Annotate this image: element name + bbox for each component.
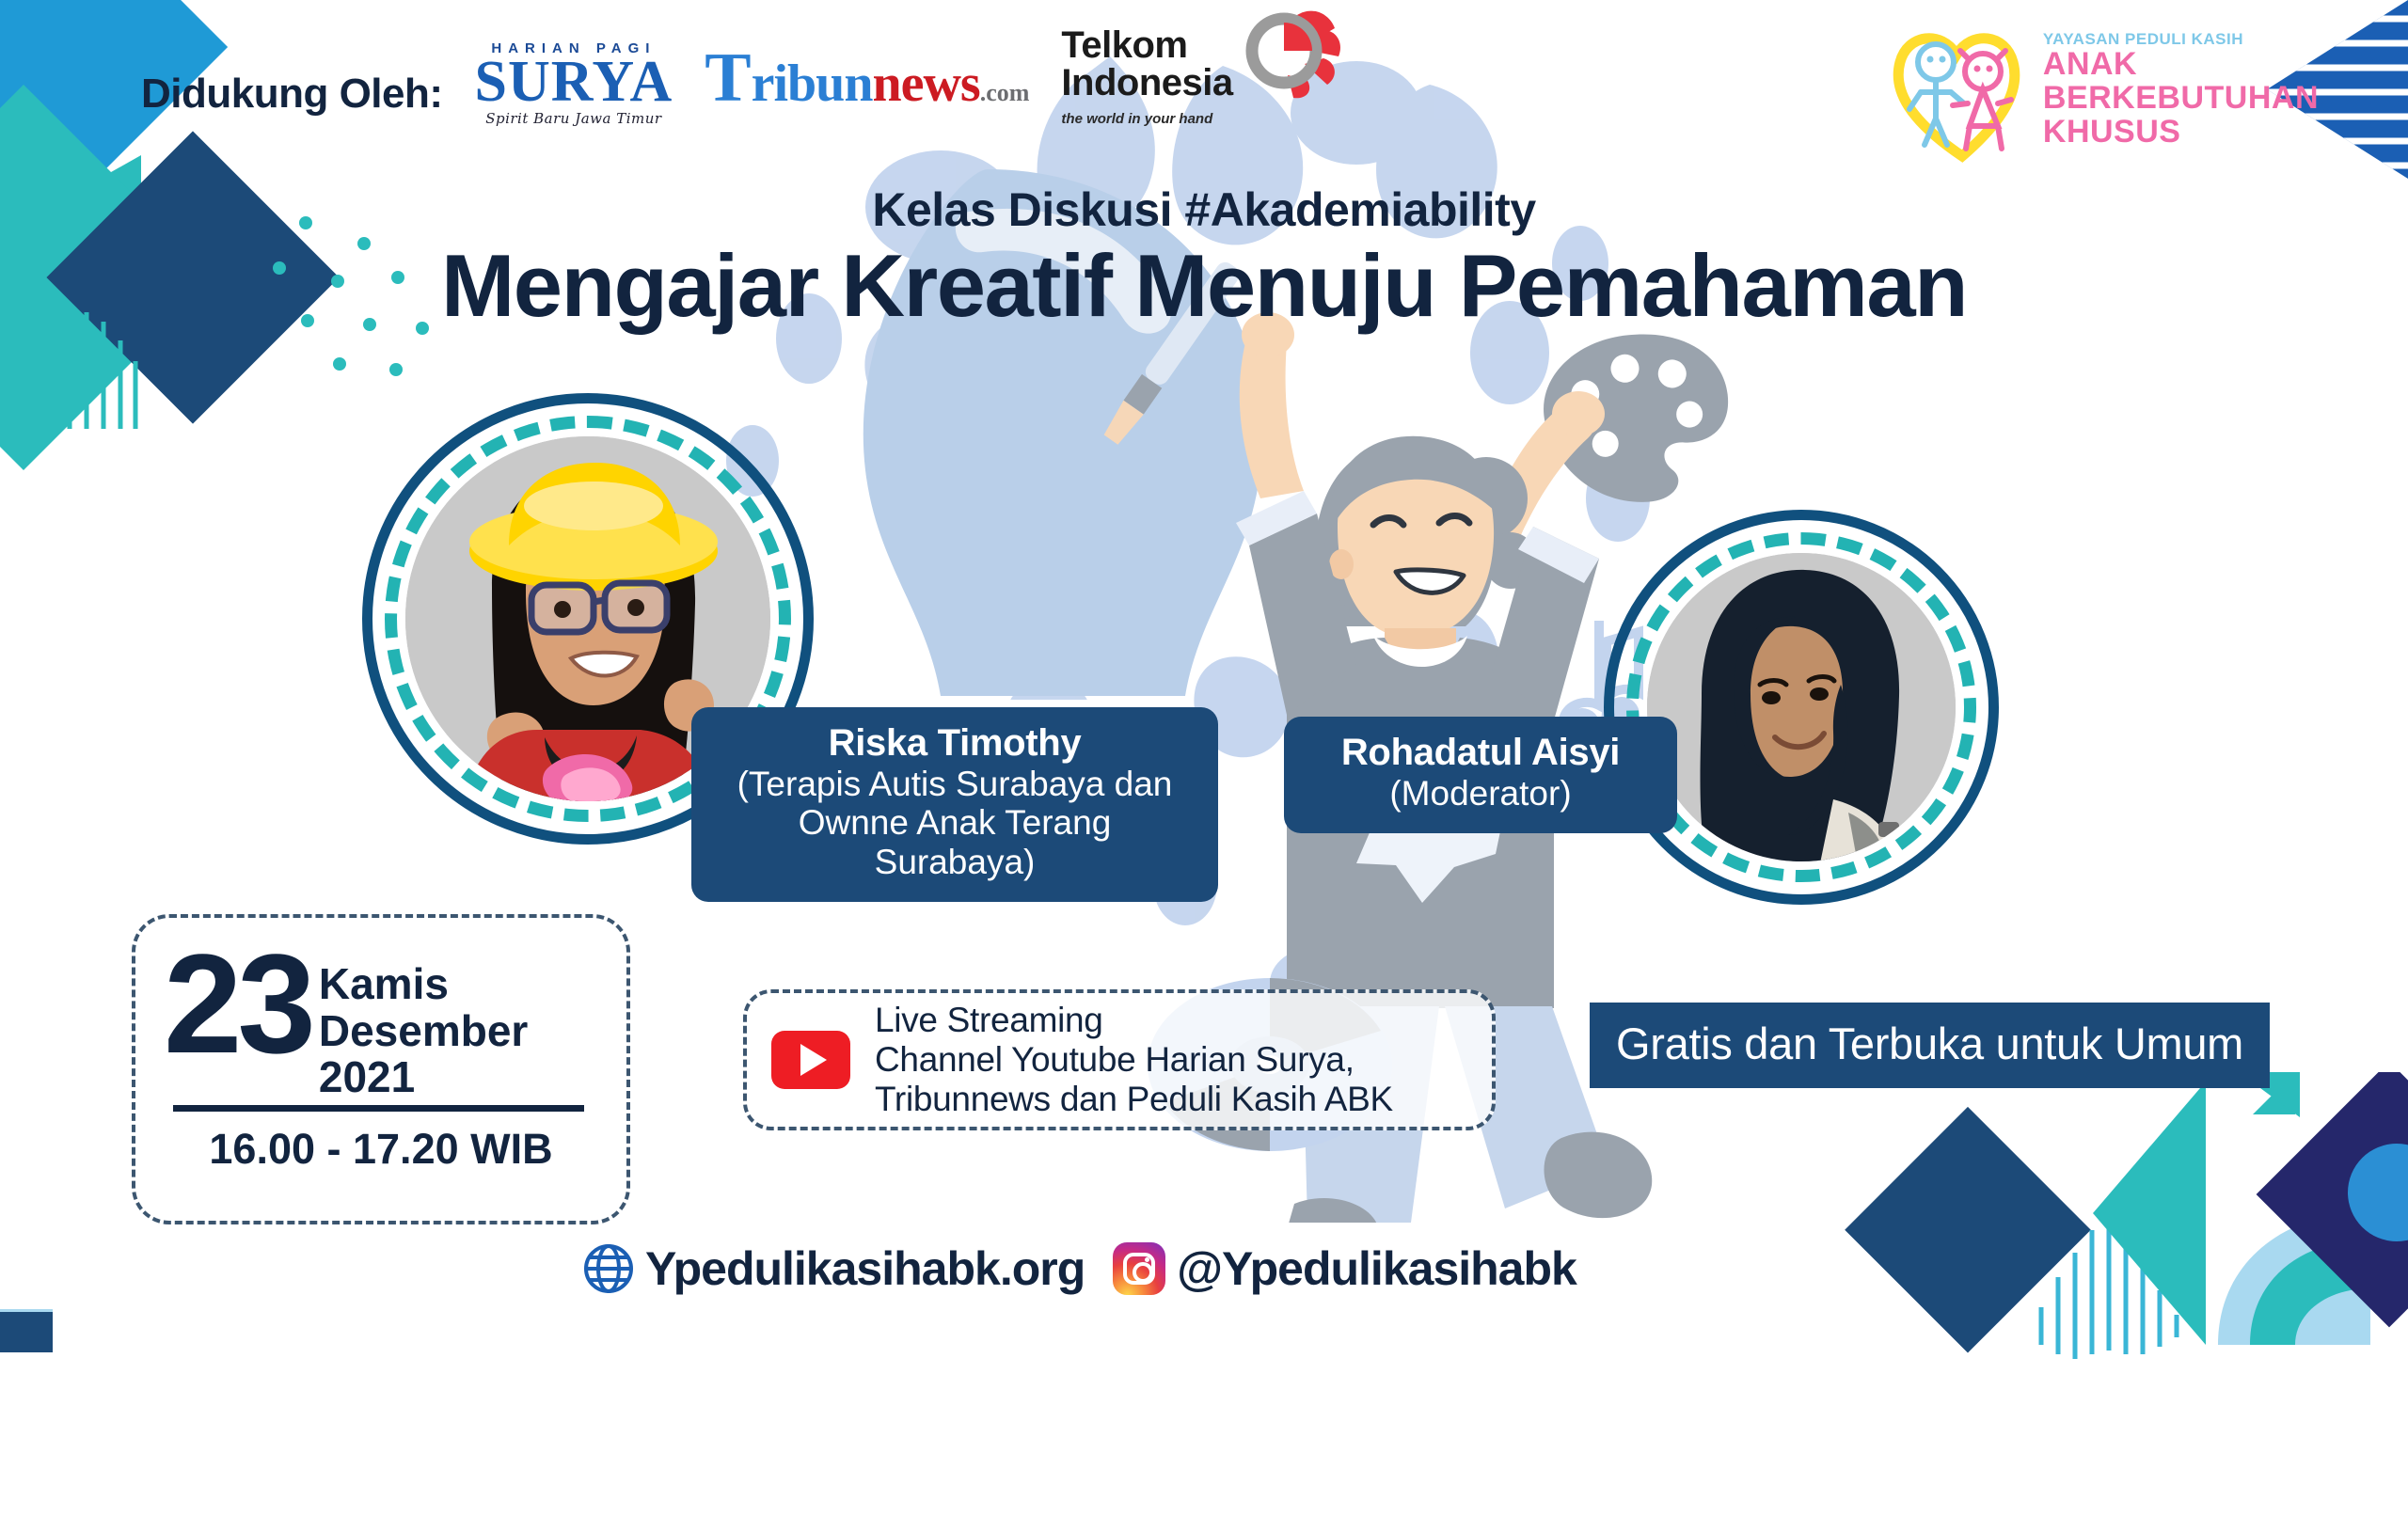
telkom-line1: Telkom xyxy=(1061,26,1232,64)
telkom-hand-icon xyxy=(1239,9,1342,99)
telkom-line2: Indonesia xyxy=(1061,64,1232,102)
youtube-icon xyxy=(771,1031,850,1089)
speaker-name-box-rohadatul: Rohadatul Aisyi (Moderator) xyxy=(1284,717,1677,833)
avatar-2 xyxy=(1647,553,1956,861)
palette-shape xyxy=(1530,317,1740,520)
free-admission-banner: Gratis dan Terbuka untuk Umum xyxy=(1590,1003,2270,1088)
speaker-role-line2: Ownne Anak Terang Surabaya) xyxy=(720,803,1190,881)
event-title: Mengajar Kreatif Menuju Pemahaman xyxy=(0,235,2408,337)
moderator-role: (Moderator) xyxy=(1312,774,1649,813)
event-subtitle: Kelas Diskusi #Akademiability xyxy=(0,182,2408,237)
contact-row: Ypedulikasihabk.org @Ypedulikasihabk xyxy=(583,1241,1576,1296)
instagram-link[interactable]: @Ypedulikasihabk xyxy=(1113,1241,1576,1296)
website-label: Ypedulikasihabk.org xyxy=(645,1241,1085,1296)
live-stream-line3: Tribunnews dan Peduli Kasih ABK xyxy=(875,1080,1393,1119)
instagram-icon xyxy=(1113,1242,1165,1295)
speaker-role-line1: (Terapis Autis Surabaya dan xyxy=(720,765,1190,803)
event-poster: Didukung Oleh: HARIAN PAGI SURYA Spirit … xyxy=(0,0,2408,1532)
live-stream-line2: Channel Youtube Harian Surya, xyxy=(875,1040,1393,1080)
event-year: 2021 xyxy=(319,1054,528,1101)
globe-icon xyxy=(583,1243,634,1294)
decor-rect-bottom-left xyxy=(0,1309,53,1352)
instagram-label: @Ypedulikasihabk xyxy=(1177,1241,1576,1296)
event-month: Desember xyxy=(319,1008,528,1055)
tribun-ribun: ribun xyxy=(752,54,873,114)
speaker-name-box-riska: Riska Timothy (Terapis Autis Surabaya da… xyxy=(691,707,1218,902)
website-link[interactable]: Ypedulikasihabk.org xyxy=(583,1241,1085,1296)
speaker-name: Riska Timothy xyxy=(720,722,1190,765)
ypk-line3: BERKEBUTUHAN xyxy=(2043,81,2319,115)
event-date-box: 23 Kamis Desember 2021 16.00 - 17.20 WIB xyxy=(132,914,630,1224)
logo-surya: HARIAN PAGI SURYA Spirit Baru Jawa Timur xyxy=(475,40,673,131)
ypk-line1: YAYASAN PEDULI KASIH xyxy=(2043,31,2319,47)
ypk-line2: ANAK xyxy=(2043,47,2319,81)
logo-telkom: Telkom Indonesia the world in your hand xyxy=(1061,26,1341,131)
surya-tagline: Spirit Baru Jawa Timur xyxy=(475,110,673,127)
surya-wordmark: SURYA xyxy=(475,55,673,110)
decor-cluster-bottom-right xyxy=(1825,1072,2408,1467)
header-logos: Didukung Oleh: HARIAN PAGI SURYA Spirit … xyxy=(141,26,1342,131)
logo-tribunnews: T ribun news .com xyxy=(705,54,1029,131)
date-divider xyxy=(173,1105,584,1112)
speaker-photo-rohadatul xyxy=(1604,510,1999,905)
event-day-name: Kamis xyxy=(319,961,528,1008)
event-day-number: 23 xyxy=(164,939,311,1070)
logo-peduli-kasih-abk: YAYASAN PEDULI KASIH ANAK BERKEBUTUHAN K… xyxy=(1887,17,2319,163)
ypk-line4: KHUSUS xyxy=(2043,115,2319,149)
tribun-initial: T xyxy=(705,55,751,103)
tribun-news: news xyxy=(872,54,979,114)
supported-by-label: Didukung Oleh: xyxy=(141,71,443,131)
two-children-heart-icon xyxy=(1887,17,2037,163)
live-stream-line1: Live Streaming xyxy=(875,1001,1393,1040)
moderator-name: Rohadatul Aisyi xyxy=(1312,732,1649,774)
tribun-com: .com xyxy=(980,79,1030,107)
telkom-tagline: the world in your hand xyxy=(1061,111,1232,127)
live-stream-box: Live Streaming Channel Youtube Harian Su… xyxy=(743,989,1496,1130)
event-time: 16.00 - 17.20 WIB xyxy=(135,1112,626,1174)
